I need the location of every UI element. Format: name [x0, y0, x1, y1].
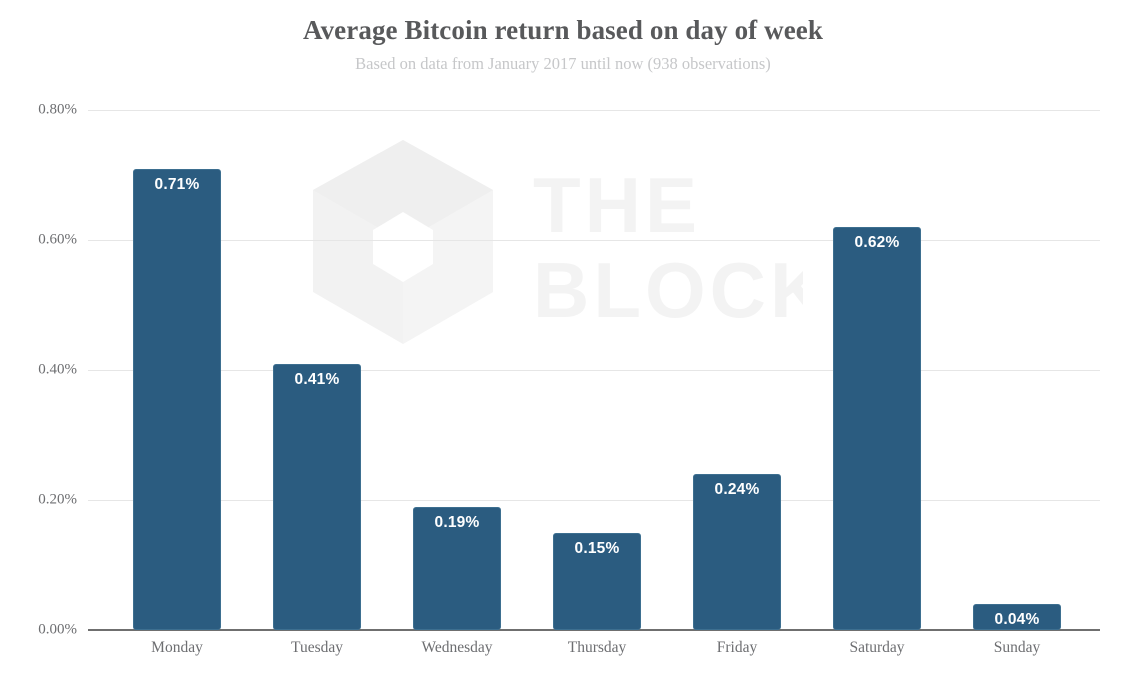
plot-area: THE BLOCK 0.80%0.60%0.40%0.20%0.00% 0.71…: [88, 110, 1100, 630]
chart-header: Average Bitcoin return based on day of w…: [0, 0, 1126, 74]
bars-layer: 0.71%Monday0.41%Tuesday0.19%Wednesday0.1…: [88, 110, 1100, 630]
bar-value-label: 0.19%: [414, 514, 500, 532]
x-axis-tick-label: Saturday: [849, 639, 904, 657]
x-axis-tick-label: Tuesday: [291, 639, 343, 657]
bar-value-label: 0.24%: [694, 481, 780, 499]
bar[interactable]: 0.24%: [693, 474, 781, 630]
bar-value-label: 0.71%: [134, 176, 220, 194]
bar-group[interactable]: 0.15%Thursday: [553, 110, 641, 630]
bar-group[interactable]: 0.19%Wednesday: [413, 110, 501, 630]
bar-value-label: 0.62%: [834, 234, 920, 252]
chart-title: Average Bitcoin return based on day of w…: [0, 13, 1126, 47]
x-axis-tick-label: Sunday: [994, 639, 1041, 657]
bar-group[interactable]: 0.24%Friday: [693, 110, 781, 630]
y-axis-tick-label: 0.40%: [38, 362, 77, 379]
bar-value-label: 0.15%: [554, 540, 640, 558]
x-axis-tick-label: Friday: [717, 639, 757, 657]
chart-container: Average Bitcoin return based on day of w…: [0, 0, 1126, 680]
bar-group[interactable]: 0.62%Saturday: [833, 110, 921, 630]
bar[interactable]: 0.15%: [553, 533, 641, 631]
x-axis-tick-label: Wednesday: [421, 639, 492, 657]
bar[interactable]: 0.62%: [833, 227, 921, 630]
bar[interactable]: 0.19%: [413, 507, 501, 631]
bar[interactable]: 0.41%: [273, 364, 361, 631]
bar-value-label: 0.04%: [974, 611, 1060, 629]
bar[interactable]: 0.04%: [973, 604, 1061, 630]
bar-group[interactable]: 0.41%Tuesday: [273, 110, 361, 630]
y-axis-tick-label: 0.80%: [38, 102, 77, 119]
y-axis-tick-label: 0.20%: [38, 492, 77, 509]
bar-value-label: 0.41%: [274, 371, 360, 389]
bar-group[interactable]: 0.71%Monday: [133, 110, 221, 630]
x-axis-tick-label: Monday: [151, 639, 203, 657]
y-axis-tick-label: 0.00%: [38, 622, 77, 639]
bar[interactable]: 0.71%: [133, 169, 221, 631]
chart-subtitle: Based on data from January 2017 until no…: [0, 54, 1126, 74]
bar-group[interactable]: 0.04%Sunday: [973, 110, 1061, 630]
x-axis-tick-label: Thursday: [568, 639, 627, 657]
y-axis-tick-label: 0.60%: [38, 232, 77, 249]
